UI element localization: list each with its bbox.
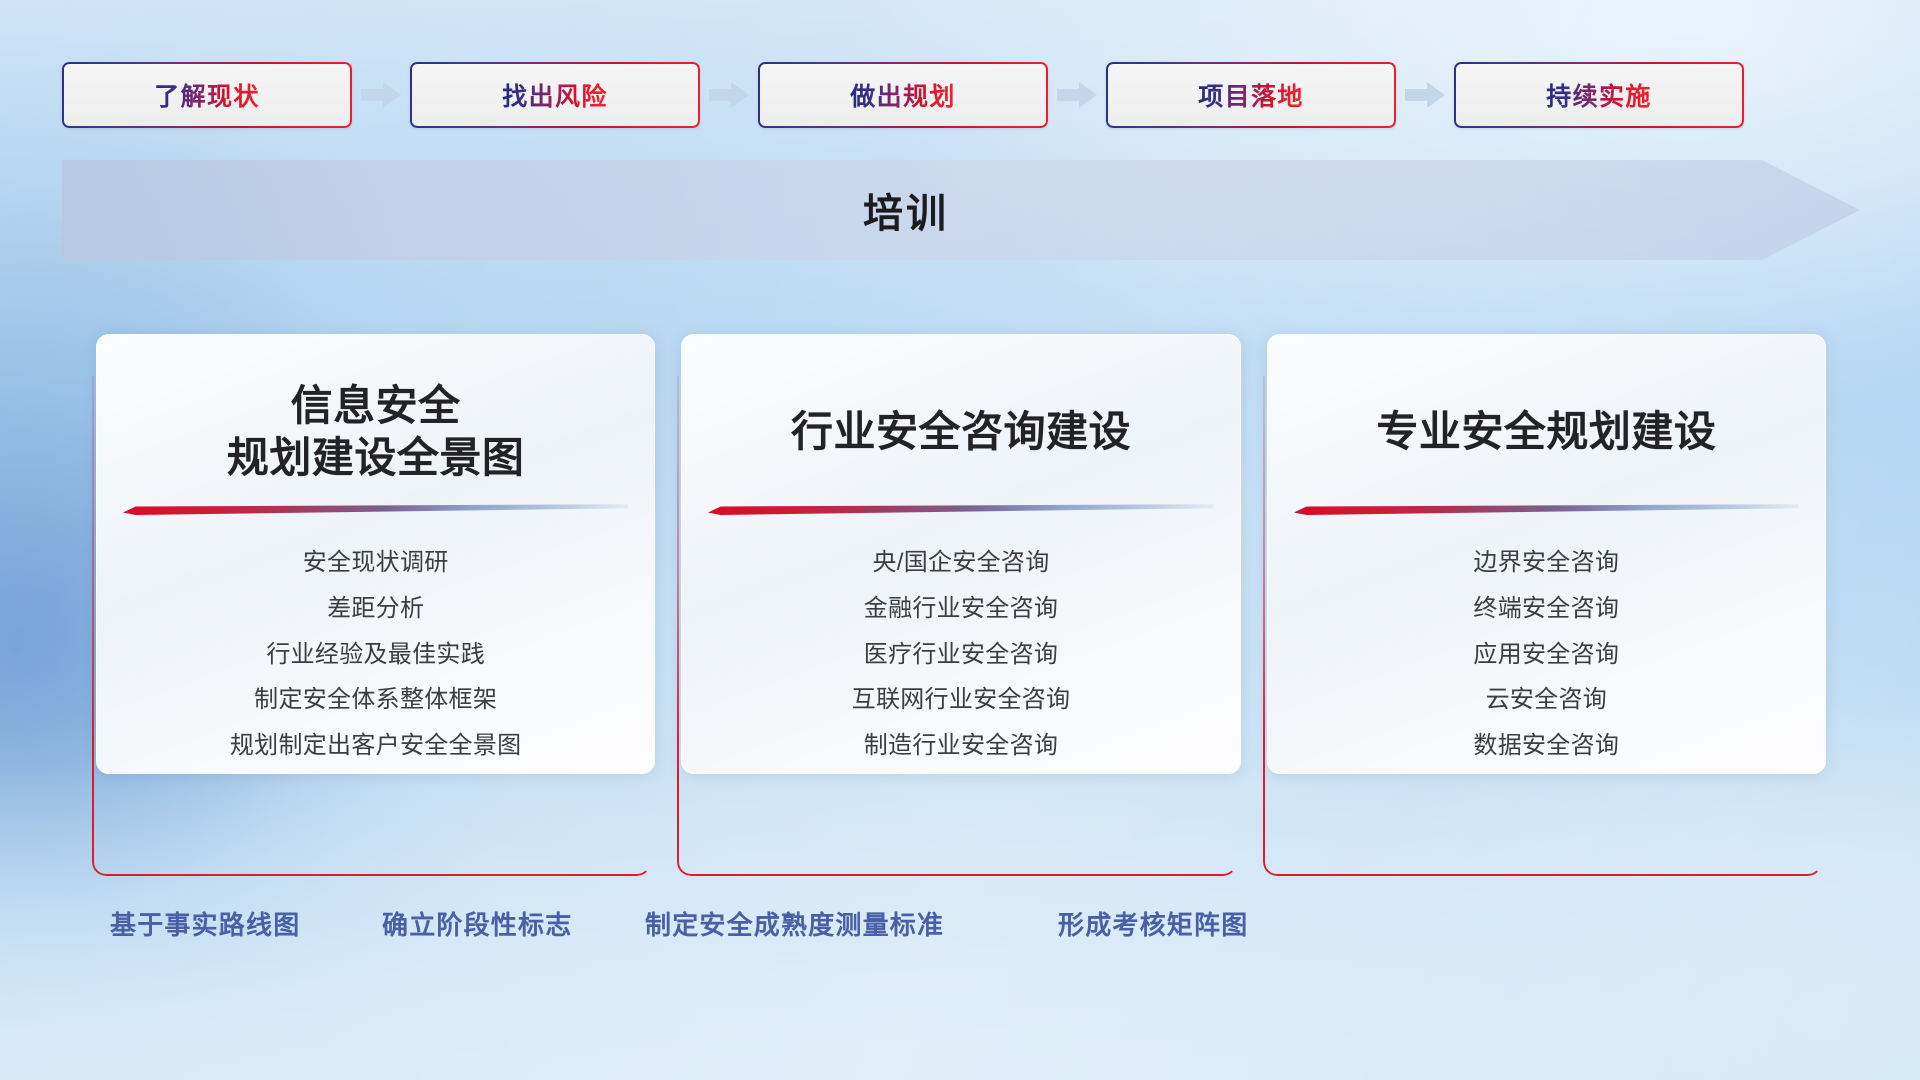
card-3[interactable]: 专业安全规划建设 [1267, 334, 1826, 774]
step-box-3[interactable]: 做出规划 [758, 62, 1048, 128]
footer-label-1: 基于事实路线图 [110, 905, 300, 942]
footer-label-2: 确立阶段性标志 [382, 905, 572, 942]
card-list-1: 安全现状调研 差距分析 行业经验及最佳实践 制定安全体系整体框架 规划制定出客户… [96, 542, 655, 767]
list-item: 金融行业安全咨询 [681, 588, 1240, 630]
step-label-4: 项目落地 [1198, 77, 1304, 113]
step-label-5: 持续实施 [1546, 77, 1652, 113]
card-row: 信息安全 规划建设全景图 [96, 334, 1826, 854]
arrow-right-icon [707, 80, 751, 110]
card-title-1: 信息安全 规划建设全景图 [96, 368, 655, 496]
arrow-right-icon [1403, 80, 1447, 110]
card-wrapper-1: 信息安全 规划建设全景图 [96, 334, 655, 854]
card-title-2: 行业安全咨询建设 [681, 368, 1240, 496]
card-2[interactable]: 行业安全咨询建设 [681, 334, 1240, 774]
list-item: 边界安全咨询 [1267, 542, 1826, 584]
list-item: 规划制定出客户安全全景图 [96, 725, 655, 767]
arrow-right-icon [359, 80, 403, 110]
step-box-4[interactable]: 项目落地 [1106, 62, 1396, 128]
list-item: 应用安全咨询 [1267, 634, 1826, 676]
list-item: 制定安全体系整体框架 [96, 679, 655, 721]
list-item: 制造行业安全咨询 [681, 725, 1240, 767]
list-item: 云安全咨询 [1267, 679, 1826, 721]
footer-label-3: 制定安全成熟度测量标准 [645, 905, 944, 942]
list-item: 安全现状调研 [96, 542, 655, 584]
step-box-1[interactable]: 了解现状 [62, 62, 352, 128]
card-wrapper-2: 行业安全咨询建设 [681, 334, 1240, 854]
step-label-2: 找出风险 [502, 77, 608, 113]
gradient-divider-icon [708, 502, 1213, 516]
card-list-3: 边界安全咨询 终端安全咨询 应用安全咨询 云安全咨询 数据安全咨询 [1267, 542, 1826, 767]
process-step-row: 了解现状 找出风险 做出规划 项目落地 持续实施 [62, 62, 1862, 128]
list-item: 医疗行业安全咨询 [681, 634, 1240, 676]
training-banner: 培训 [62, 160, 1860, 260]
step-box-5[interactable]: 持续实施 [1454, 62, 1744, 128]
step-label-3: 做出规划 [850, 77, 956, 113]
list-item: 行业经验及最佳实践 [96, 634, 655, 676]
footer-label-4: 形成考核矩阵图 [1058, 905, 1248, 942]
gradient-divider-icon [123, 502, 628, 516]
list-item: 央/国企安全咨询 [681, 542, 1240, 584]
list-item: 数据安全咨询 [1267, 725, 1826, 767]
card-title-3: 专业安全规划建设 [1267, 368, 1826, 496]
step-box-2[interactable]: 找出风险 [410, 62, 700, 128]
card-list-2: 央/国企安全咨询 金融行业安全咨询 医疗行业安全咨询 互联网行业安全咨询 制造行… [681, 542, 1240, 767]
list-item: 终端安全咨询 [1267, 588, 1826, 630]
gradient-divider-icon [1294, 502, 1799, 516]
card-wrapper-3: 专业安全规划建设 [1267, 334, 1826, 854]
footer-label-row: 基于事实路线图 确立阶段性标志 制定安全成熟度测量标准 形成考核矩阵图 [0, 905, 1920, 965]
banner-title: 培训 [62, 160, 1860, 260]
step-label-1: 了解现状 [154, 77, 260, 113]
arrow-right-icon [1055, 80, 1099, 110]
list-item: 互联网行业安全咨询 [681, 679, 1240, 721]
card-1[interactable]: 信息安全 规划建设全景图 [96, 334, 655, 774]
list-item: 差距分析 [96, 588, 655, 630]
